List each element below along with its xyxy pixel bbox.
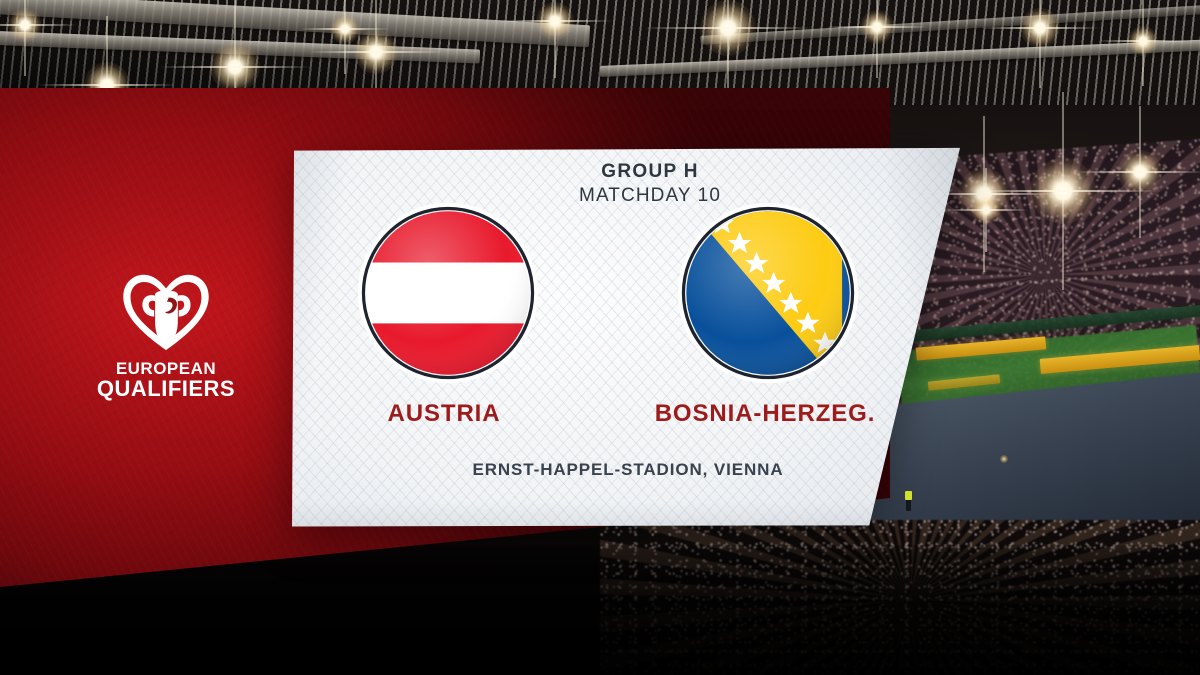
- teams-row: AUSTRIA: [328, 198, 888, 428]
- european-qualifiers-heart-icon: [120, 272, 212, 352]
- match-info-card: GROUP H MATCHDAY 10: [288, 146, 960, 528]
- logo-line-1: EUROPEAN: [96, 360, 236, 377]
- away-team-name: BOSNIA-HERZEG.: [642, 400, 888, 428]
- home-team: AUSTRIA: [328, 198, 568, 428]
- austria-flag-icon: [353, 198, 543, 388]
- broadcast-graphic: EUROPEAN QUALIFIERS GROUP H MATCHDAY 10: [0, 0, 1200, 675]
- venue-label: ERNST-HAPPEL-STADION, VIENNA: [428, 460, 828, 480]
- bosnia-herzegovina-flag-icon: [673, 198, 863, 388]
- card-content: GROUP H MATCHDAY 10: [288, 146, 960, 528]
- light-spark: [1000, 455, 1008, 463]
- home-team-name: AUSTRIA: [320, 400, 568, 428]
- european-qualifiers-wordmark: EUROPEAN QUALIFIERS: [96, 360, 236, 400]
- away-team: BOSNIA-HERZEG.: [648, 198, 888, 428]
- group-label: GROUP H: [500, 160, 800, 184]
- european-qualifiers-logo: EUROPEAN QUALIFIERS: [96, 272, 236, 400]
- logo-line-2: QUALIFIERS: [96, 378, 236, 400]
